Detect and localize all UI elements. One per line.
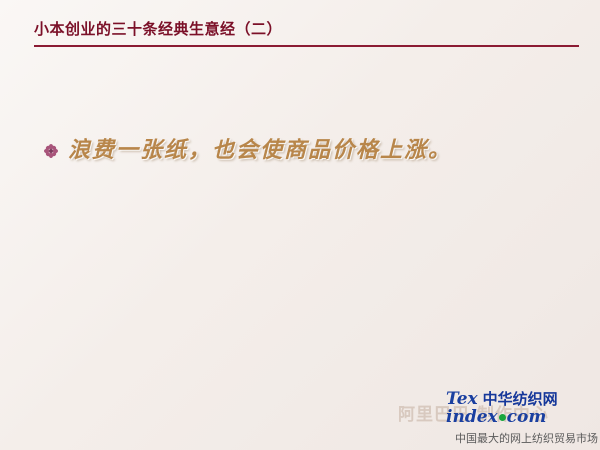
logo-line-one: Tex 中华纺织网: [446, 388, 598, 409]
flower-bullet-icon: [44, 144, 58, 158]
bullet-list-item: 浪费一张纸，也会使商品价格上涨。: [44, 136, 452, 166]
site-tagline: 中国最大的网上纺织贸易市场: [398, 430, 598, 446]
watermark-block: 阿里巴巴 制作中心 Tex 中华纺织网 index com 中国最大的网上纺织贸…: [398, 388, 598, 446]
logo-tex-text: Tex: [446, 389, 478, 409]
logo-index-text: index: [446, 407, 498, 427]
bullet-text: 浪费一张纸，也会使商品价格上涨。: [68, 136, 452, 166]
page-title: 小本创业的三十条经典生意经（二）: [34, 18, 579, 39]
logo-line-two: index com: [446, 407, 598, 427]
logo-com-text: com: [507, 407, 547, 427]
title-block: 小本创业的三十条经典生意经（二）: [34, 18, 579, 47]
title-divider: [34, 45, 579, 47]
logo-chinese-text: 中华纺织网: [483, 388, 558, 409]
slide-canvas: 小本创业的三十条经典生意经（二） 浪费一张纸，也会使商品价格上涨。: [0, 0, 600, 450]
site-logo: Tex 中华纺织网 index com: [446, 388, 598, 427]
green-dot-icon: [499, 414, 506, 421]
